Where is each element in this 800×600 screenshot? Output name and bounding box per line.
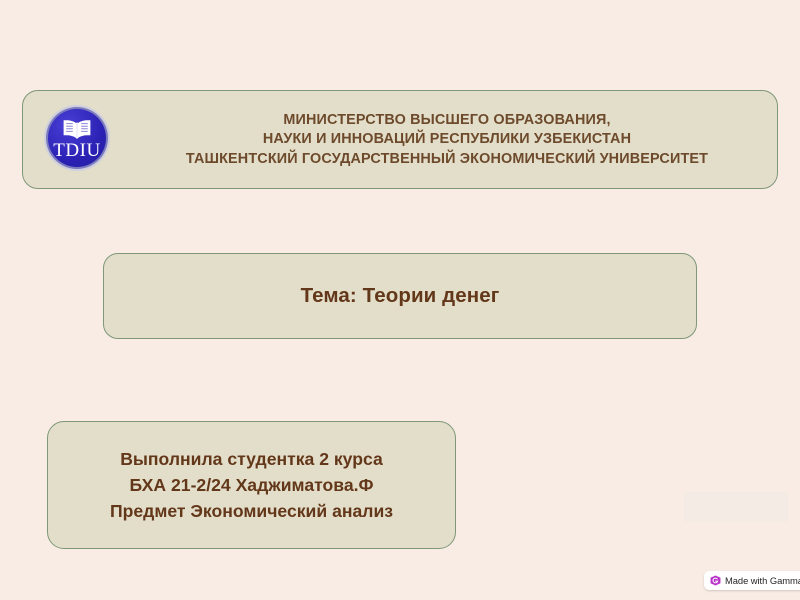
logo-disc: TDIU [48, 109, 106, 167]
header-line-3: ТАШКЕНТСКИЙ ГОСУДАРСТВЕННЫЙ ЭКОНОМИЧЕСКИ… [135, 149, 759, 169]
title-panel: Тема: Теории денег [103, 253, 697, 339]
page-title: Тема: Теории денег [301, 284, 500, 308]
header-line-1: МИНИСТЕРСТВО ВЫСШЕГО ОБРАЗОВАНИЯ, [135, 110, 759, 130]
author-panel: Выполнила студентка 2 курса БХА 21-2/24 … [47, 421, 456, 549]
header-line-2: НАУКИ И ИННОВАЦИЙ РЕСПУБЛИКИ УЗБЕКИСТАН [135, 130, 759, 150]
background-wash-block [684, 492, 788, 522]
author-line-1: Выполнила студентка 2 курса [110, 446, 393, 472]
logo-abbreviation: TDIU [48, 141, 106, 160]
slide-canvas: TDIU МИНИСТЕРСТВО ВЫСШЕГО ОБРАЗОВАНИЯ, Н… [0, 0, 800, 600]
made-with-gamma-badge[interactable]: Made with Gamma [704, 571, 800, 590]
header-institution-text: МИНИСТЕРСТВО ВЫСШЕГО ОБРАЗОВАНИЯ, НАУКИ … [135, 110, 759, 169]
university-logo: TDIU [44, 105, 110, 171]
author-line-2: БХА 21-2/24 Хаджиматова.Ф [110, 472, 393, 498]
gamma-badge-label: Made with Gamma [725, 575, 800, 586]
header-panel: TDIU МИНИСТЕРСТВО ВЫСШЕГО ОБРАЗОВАНИЯ, Н… [22, 90, 778, 189]
gamma-logo-icon [710, 575, 721, 586]
author-line-3: Предмет Экономический анализ [110, 498, 393, 524]
open-book-icon [61, 118, 93, 140]
author-details: Выполнила студентка 2 курса БХА 21-2/24 … [110, 446, 393, 524]
